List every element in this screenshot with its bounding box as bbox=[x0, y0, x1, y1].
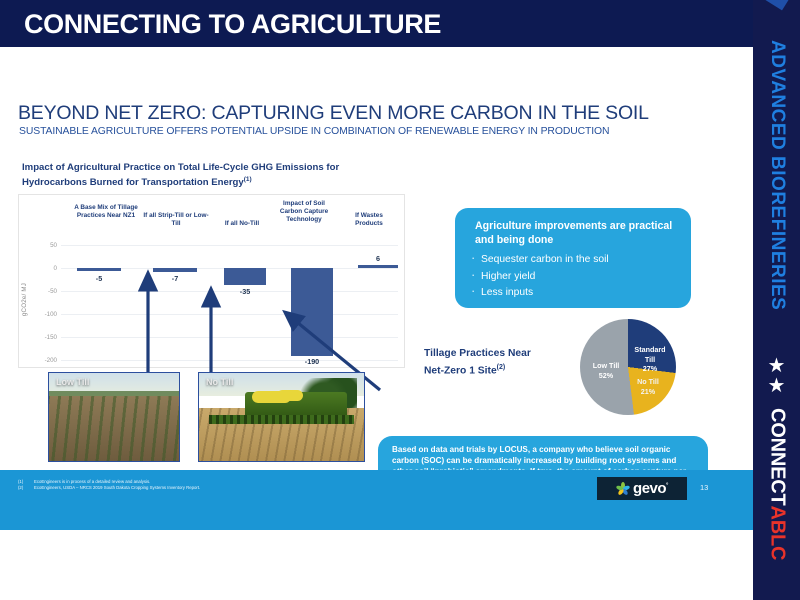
photo-low-till: Low Till bbox=[48, 372, 180, 462]
slide-title: BEYOND NET ZERO: CAPTURING EVEN MORE CAR… bbox=[18, 102, 649, 125]
banner-title: CONNECTING TO AGRICULTURE bbox=[24, 9, 441, 40]
gevo-wordmark: gevo bbox=[633, 480, 666, 497]
callout-bullet: Higher yield bbox=[469, 269, 683, 286]
callout-bullet-list: Sequester carbon in the soil Higher yiel… bbox=[469, 252, 683, 302]
callout-heading: Agriculture improvements are practical a… bbox=[475, 220, 675, 247]
rail-accent-slash bbox=[753, 0, 800, 10]
photo-toolbar bbox=[209, 415, 354, 424]
rail-brand-ablcconnect: CONNECTABLC bbox=[755, 408, 799, 593]
gevo-trademark: ° bbox=[666, 483, 668, 489]
footnotes: (1) EcoEngineers is in process of a deta… bbox=[18, 479, 438, 492]
bar-soil-carbon-capture bbox=[291, 268, 333, 356]
y-tick-label: -150 bbox=[37, 334, 57, 341]
pie-slice-label: Low Till bbox=[593, 361, 620, 370]
chart-col-header: A Base Mix of Tillage Practices Near NZ1 bbox=[69, 204, 143, 220]
pie-title-footnote: (2) bbox=[497, 364, 506, 371]
chart-column-headers: A Base Mix of Tillage Practices Near NZ1… bbox=[61, 200, 401, 244]
y-tick-label: 0 bbox=[37, 265, 57, 272]
chart-plot-area: 50 0 -50 -100 -150 -200 -5 -7 -35 -190 6 bbox=[61, 245, 398, 360]
pie-slice-label: Standard Till bbox=[634, 345, 665, 364]
bar-value-label: -35 bbox=[224, 287, 266, 296]
gridline bbox=[61, 245, 398, 246]
pie-title-line1: Tillage Practices Near bbox=[424, 348, 531, 359]
pie-label-standard-till: Standard Till 27% bbox=[630, 345, 670, 374]
y-tick-label: -100 bbox=[37, 311, 57, 318]
y-tick-label: -200 bbox=[37, 357, 57, 364]
photo-caption: Low Till bbox=[56, 377, 89, 387]
gevo-pinwheel-icon bbox=[616, 482, 629, 495]
slide-subtitle: SUSTAINABLE AGRICULTURE OFFERS POTENTIAL… bbox=[19, 126, 609, 137]
chart-col-header: If all Strip-Till or Low-Till bbox=[143, 212, 209, 228]
pie-title-line2: Net-Zero 1 Site bbox=[424, 365, 497, 376]
bar-value-label: -5 bbox=[77, 274, 121, 283]
bar-waste-products bbox=[358, 265, 398, 268]
pie-label-low-till: Low Till 52% bbox=[586, 361, 626, 380]
chart-title-text: Impact of Agricultural Practice on Total… bbox=[22, 162, 339, 188]
rail-brand-connect: CONNECT bbox=[767, 408, 789, 506]
rail-stars: ★ ★ bbox=[753, 345, 800, 407]
gevo-logo-text: gevo° bbox=[633, 480, 668, 497]
slide-footer: (1) EcoEngineers is in process of a deta… bbox=[0, 470, 753, 530]
bar-base-mix bbox=[77, 268, 121, 271]
rail-brand-text: CONNECTABLC bbox=[766, 408, 789, 560]
pie-chart-title: Tillage Practices Near Net-Zero 1 Site(2… bbox=[424, 347, 574, 378]
chart-col-header: If all No-Till bbox=[211, 220, 273, 228]
gridline bbox=[61, 337, 398, 338]
chart-col-header: If Wastes Products bbox=[341, 212, 397, 228]
agriculture-improvements-callout: Agriculture improvements are practical a… bbox=[455, 208, 691, 308]
top-banner: CONNECTING TO AGRICULTURE bbox=[0, 0, 753, 47]
pie-label-no-till: No Till 21% bbox=[630, 377, 666, 396]
photo-tank bbox=[277, 390, 303, 401]
tillage-pie-chart: Standard Till 27% No Till 21% Low Till 5… bbox=[580, 319, 682, 415]
photo-no-till: No Till bbox=[198, 372, 365, 462]
y-tick-label: -50 bbox=[37, 288, 57, 295]
gevo-logo: gevo° bbox=[597, 477, 687, 500]
star-icon: ★ bbox=[768, 377, 786, 395]
footnote-row: (2) EcoEngineers, USDA – NRCS 2019 South… bbox=[18, 485, 438, 491]
bar-chart: A Base Mix of Tillage Practices Near NZ1… bbox=[18, 194, 405, 368]
chart-title: Impact of Agricultural Practice on Total… bbox=[22, 162, 362, 189]
callout-bullet: Sequester carbon in the soil bbox=[469, 252, 683, 269]
rail-label-text: ADVANCED BIOREFINERIES bbox=[766, 40, 788, 310]
callout-bullet: Less inputs bbox=[469, 285, 683, 302]
gridline bbox=[61, 360, 398, 361]
rail-brand-ablc: ABLC bbox=[767, 506, 789, 561]
pie-slice-value: 27% bbox=[643, 364, 657, 373]
bar-value-label: -7 bbox=[153, 274, 197, 283]
slide-screenshot: CONNECTING TO AGRICULTURE ADVANCED BIORE… bbox=[0, 0, 800, 600]
footnote-marker: (2) bbox=[18, 485, 28, 491]
bar-no-till bbox=[224, 268, 266, 285]
photo-caption: No Till bbox=[206, 377, 233, 387]
bar-value-label: 6 bbox=[358, 254, 398, 263]
right-side-rail: ADVANCED BIOREFINERIES ★ ★ CONNECTABLC bbox=[753, 0, 800, 600]
photo-crop-rows bbox=[48, 396, 180, 461]
chart-col-header: Impact of Soil Carbon Capture Technology bbox=[273, 200, 335, 224]
pie-slice-label: No Till bbox=[637, 377, 659, 386]
footnote-text: EcoEngineers, USDA – NRCS 2019 South Dak… bbox=[34, 485, 200, 491]
bar-strip-till bbox=[153, 268, 197, 272]
pie-slice-value: 21% bbox=[641, 387, 655, 396]
chart-title-footnote: (1) bbox=[244, 176, 252, 183]
bottom-white-strip bbox=[0, 530, 753, 600]
bar-value-label: -190 bbox=[291, 357, 333, 366]
star-icon: ★ bbox=[768, 357, 786, 375]
page-number: 13 bbox=[700, 483, 708, 492]
slide-canvas: BEYOND NET ZERO: CAPTURING EVEN MORE CAR… bbox=[0, 50, 750, 520]
rail-label-advanced-biorefineries: ADVANCED BIOREFINERIES bbox=[755, 40, 799, 340]
pie-slice-value: 52% bbox=[599, 371, 613, 380]
chart-y-axis-label: gCO2e/ MJ bbox=[21, 283, 28, 316]
y-tick-label: 50 bbox=[37, 242, 57, 249]
gridline bbox=[61, 314, 398, 315]
